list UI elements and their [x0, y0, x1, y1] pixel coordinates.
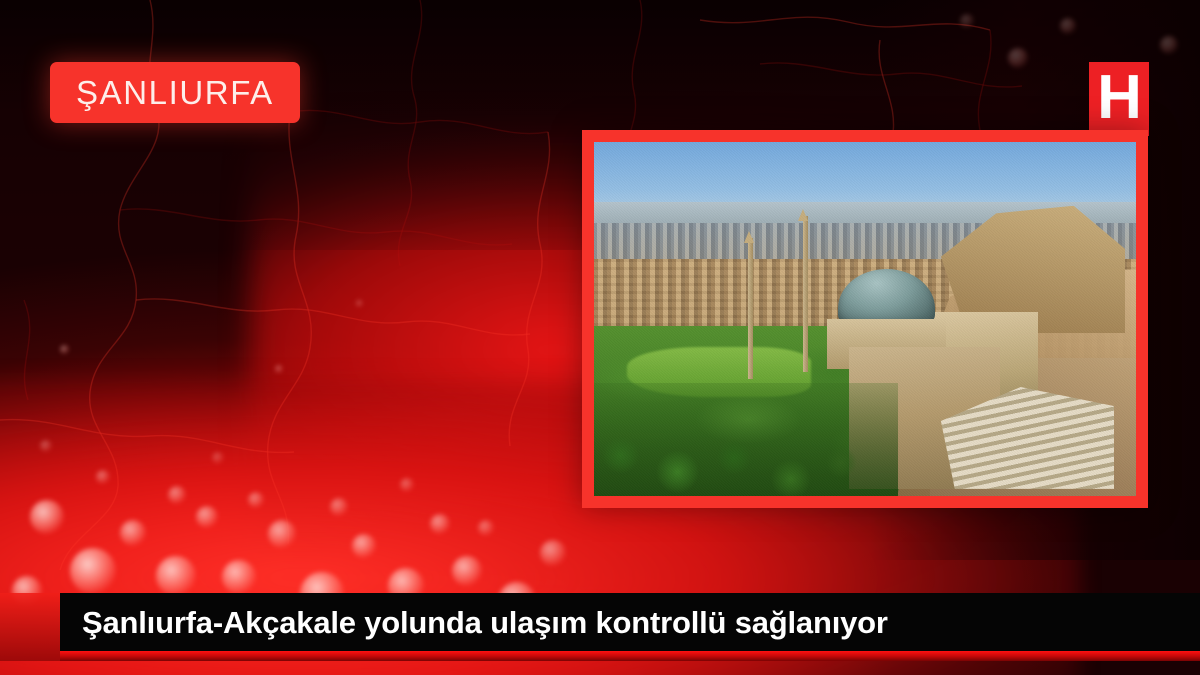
caption-bar[interactable]: Şanlıurfa-Akçakale yolunda ulaşım kontro…	[60, 593, 1200, 651]
caption-accent-strip	[60, 651, 1200, 661]
photo-texture-overlay	[594, 142, 1136, 496]
haberler-h-logo-icon: H	[1097, 67, 1141, 129]
city-badge[interactable]: ŞANLIURFA	[50, 62, 300, 123]
headline-text: Şanlıurfa-Akçakale yolunda ulaşım kontro…	[60, 607, 888, 638]
brand-logo[interactable]: H	[1089, 62, 1149, 136]
news-card: ŞANLIURFA H Şanl	[0, 0, 1200, 675]
city-badge-label: ŞANLIURFA	[76, 76, 274, 109]
caption-left-stub	[0, 593, 60, 661]
photo-frame[interactable]	[582, 130, 1148, 508]
city-photo	[594, 142, 1136, 496]
